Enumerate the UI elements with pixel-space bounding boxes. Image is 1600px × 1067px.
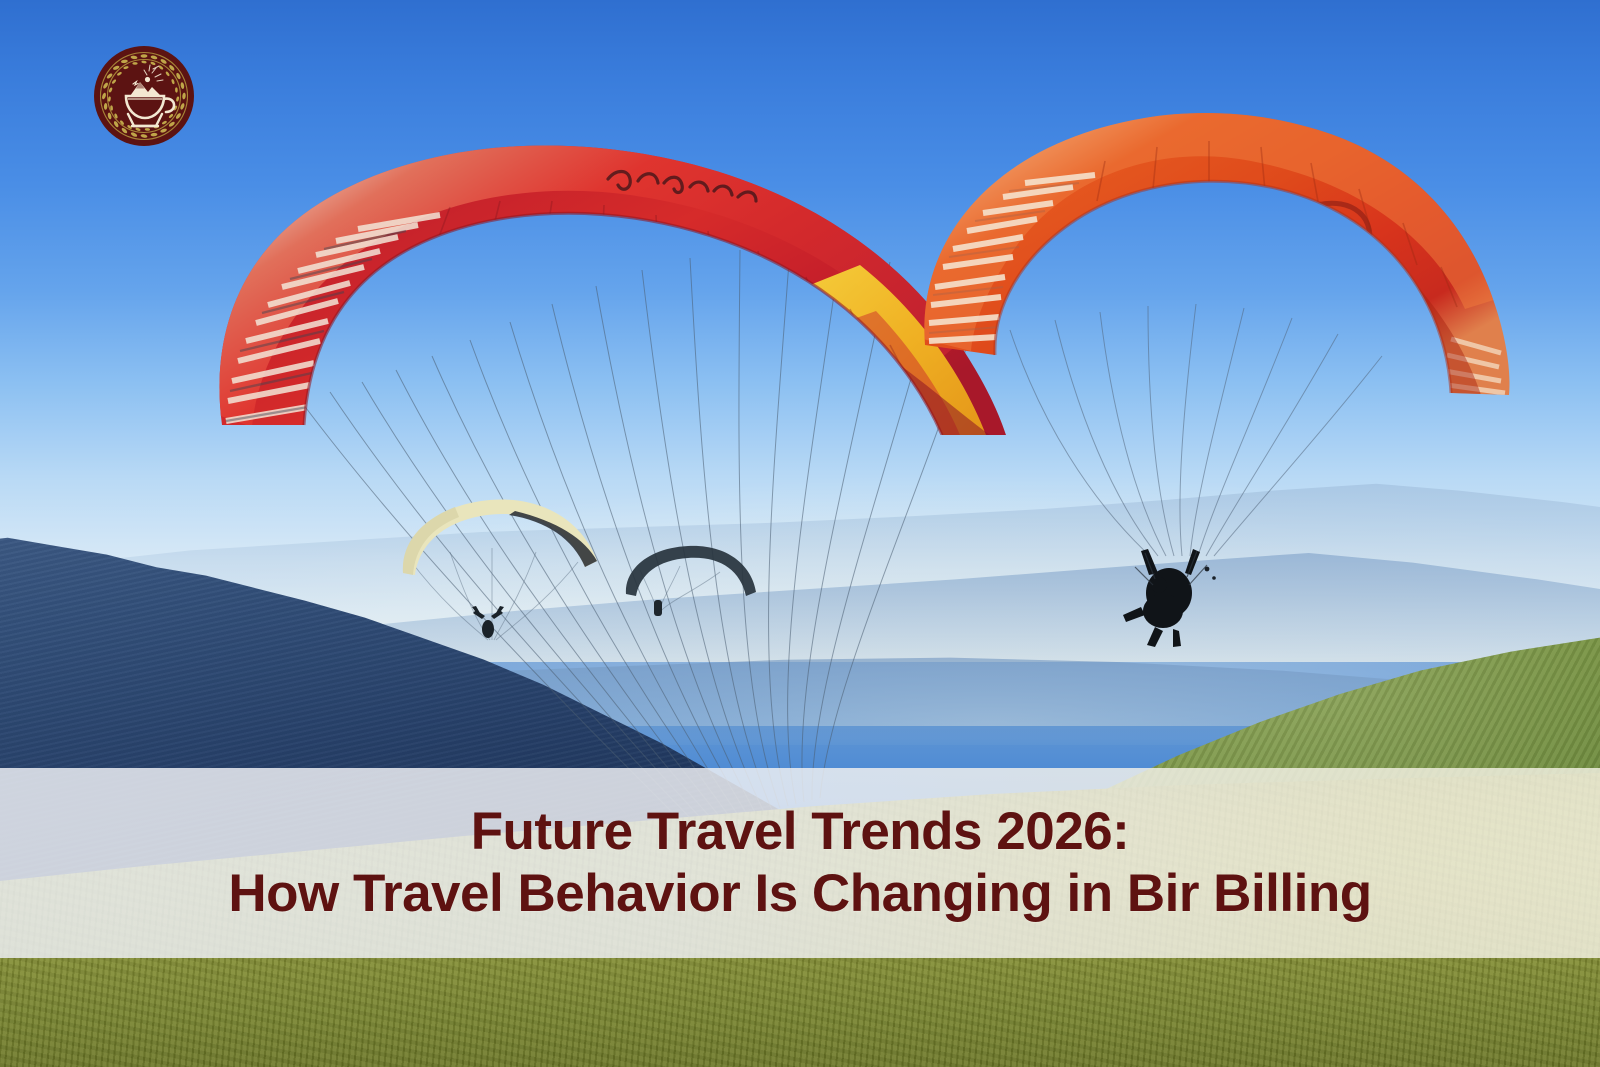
title-line-2: How Travel Behavior Is Changing in Bir B…: [228, 866, 1371, 922]
title-banner: Future Travel Trends 2026: How Travel Be…: [0, 768, 1600, 958]
distant-paraglider-cream: [395, 495, 605, 580]
distant-pilot-silhouette-left: [465, 605, 511, 647]
second-paraglider-wing: [895, 95, 1535, 425]
brand-logo[interactable]: [92, 44, 196, 148]
featured-image-banner: Future Travel Trends 2026: How Travel Be…: [0, 0, 1600, 1067]
distant-paraglider-dark: [620, 540, 760, 600]
distant-pilot-silhouette-center: [645, 595, 671, 621]
title-line-1: Future Travel Trends 2026:: [471, 804, 1130, 860]
tandem-pilot-silhouette: [1115, 545, 1225, 655]
